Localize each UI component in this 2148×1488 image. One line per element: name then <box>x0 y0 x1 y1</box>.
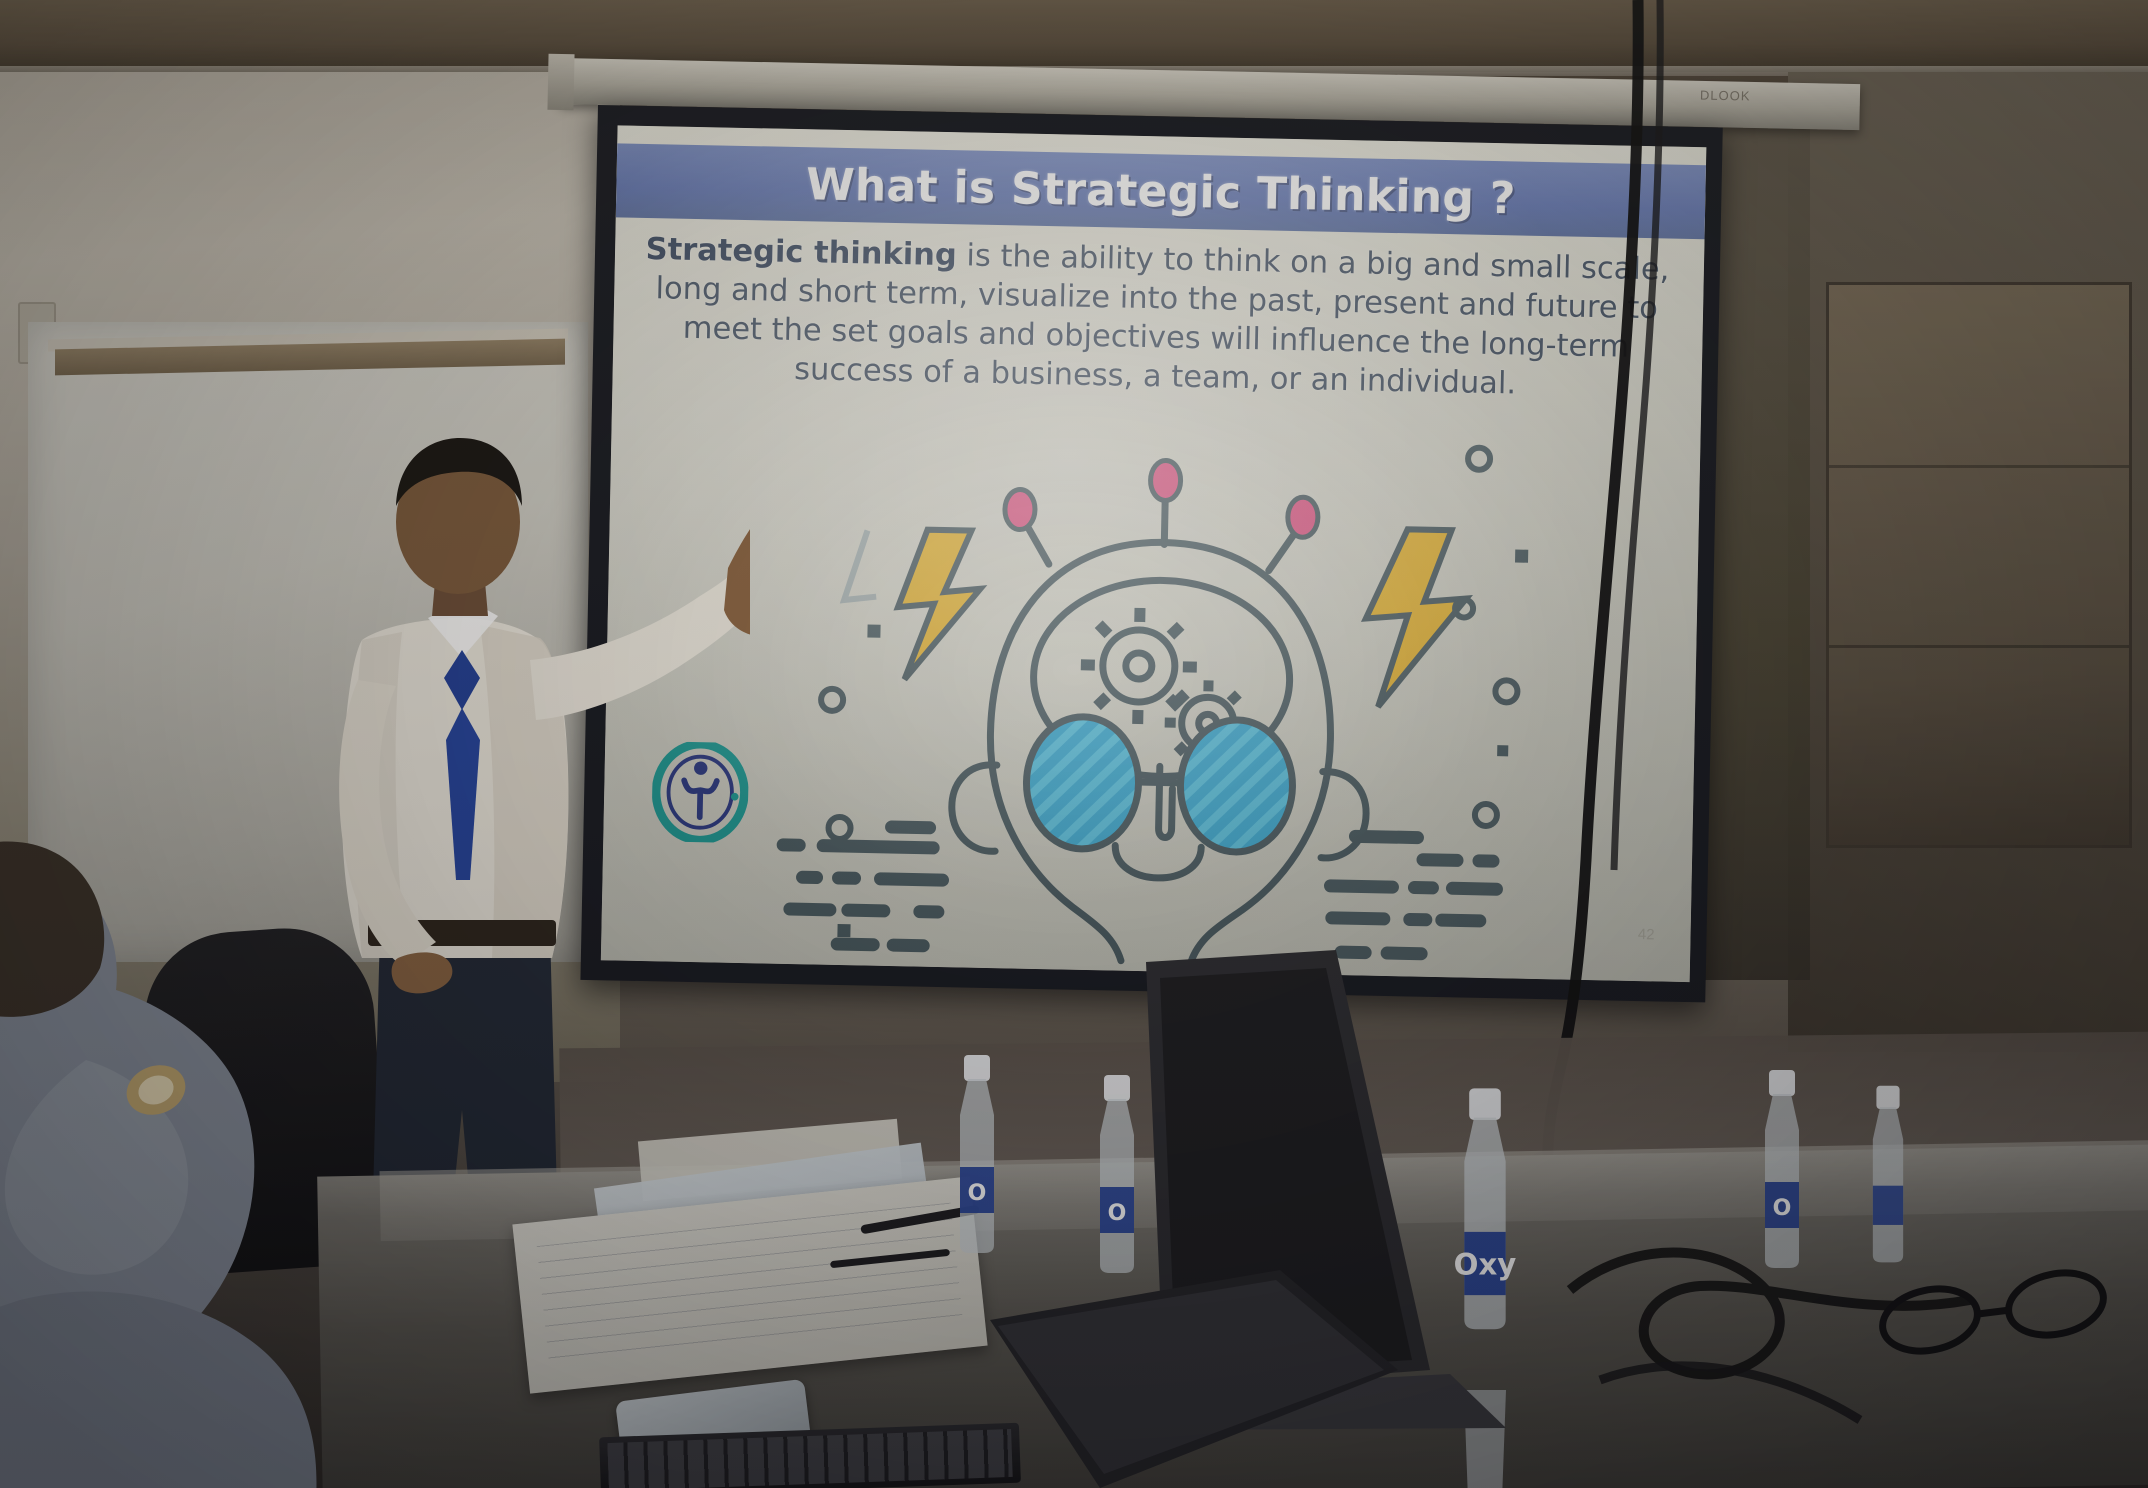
water-bottle: O <box>940 1055 1014 1255</box>
screenshot-root: DLOOK What is Strategic Thinking ? Strat… <box>0 0 2148 1488</box>
gear-large <box>1080 607 1198 725</box>
sunglasses-right-lens <box>1179 719 1294 853</box>
laptop-closed <box>980 1250 1400 1488</box>
projector-screen-cap <box>547 54 574 111</box>
head-with-gears-illustration <box>741 408 1582 982</box>
lightning-bolt-right <box>1364 529 1468 709</box>
svg-text:O: O <box>968 1181 987 1206</box>
slide-body-text: Strategic thinking is the ability to thi… <box>616 229 1696 407</box>
presenter-raised-arm <box>530 570 750 720</box>
slide-title: What is Strategic Thinking ? <box>806 159 1516 224</box>
lightning-bolts <box>842 518 1467 708</box>
lightning-bolt-left <box>897 529 982 681</box>
slide-number: 42 <box>1638 926 1655 943</box>
attendee-lap <box>0 1291 316 1488</box>
presenter-hand-raised <box>724 495 750 637</box>
antenna-bulb-center <box>1150 460 1181 501</box>
sunglasses-bridge <box>1139 782 1181 783</box>
cabinet <box>1826 282 2132 848</box>
projector-brand-label: DLOOK <box>1700 87 1751 103</box>
slide: What is Strategic Thinking ? Strategic t… <box>601 125 1707 982</box>
slide-title-bar: What is Strategic Thinking ? <box>616 143 1706 239</box>
right-wall <box>1788 72 2148 1052</box>
ear-left <box>951 764 997 851</box>
smile <box>1115 846 1202 879</box>
dash-decorations <box>781 825 1497 957</box>
svg-text:O: O <box>1108 1201 1127 1226</box>
sunglasses-left-lens <box>1025 716 1140 850</box>
eyeglasses <box>1860 1230 2148 1410</box>
projection-screen: What is Strategic Thinking ? Strategic t… <box>580 105 1722 1002</box>
slide-body-lead: Strategic thinking <box>645 232 957 273</box>
svg-text:O: O <box>1773 1196 1792 1221</box>
screen-surface: What is Strategic Thinking ? Strategic t… <box>601 125 1707 982</box>
lightning-spark-left <box>844 530 877 601</box>
antenna-bulb-right <box>1287 497 1318 538</box>
antenna-bulb-left <box>1005 489 1036 530</box>
ceiling <box>0 0 2148 72</box>
